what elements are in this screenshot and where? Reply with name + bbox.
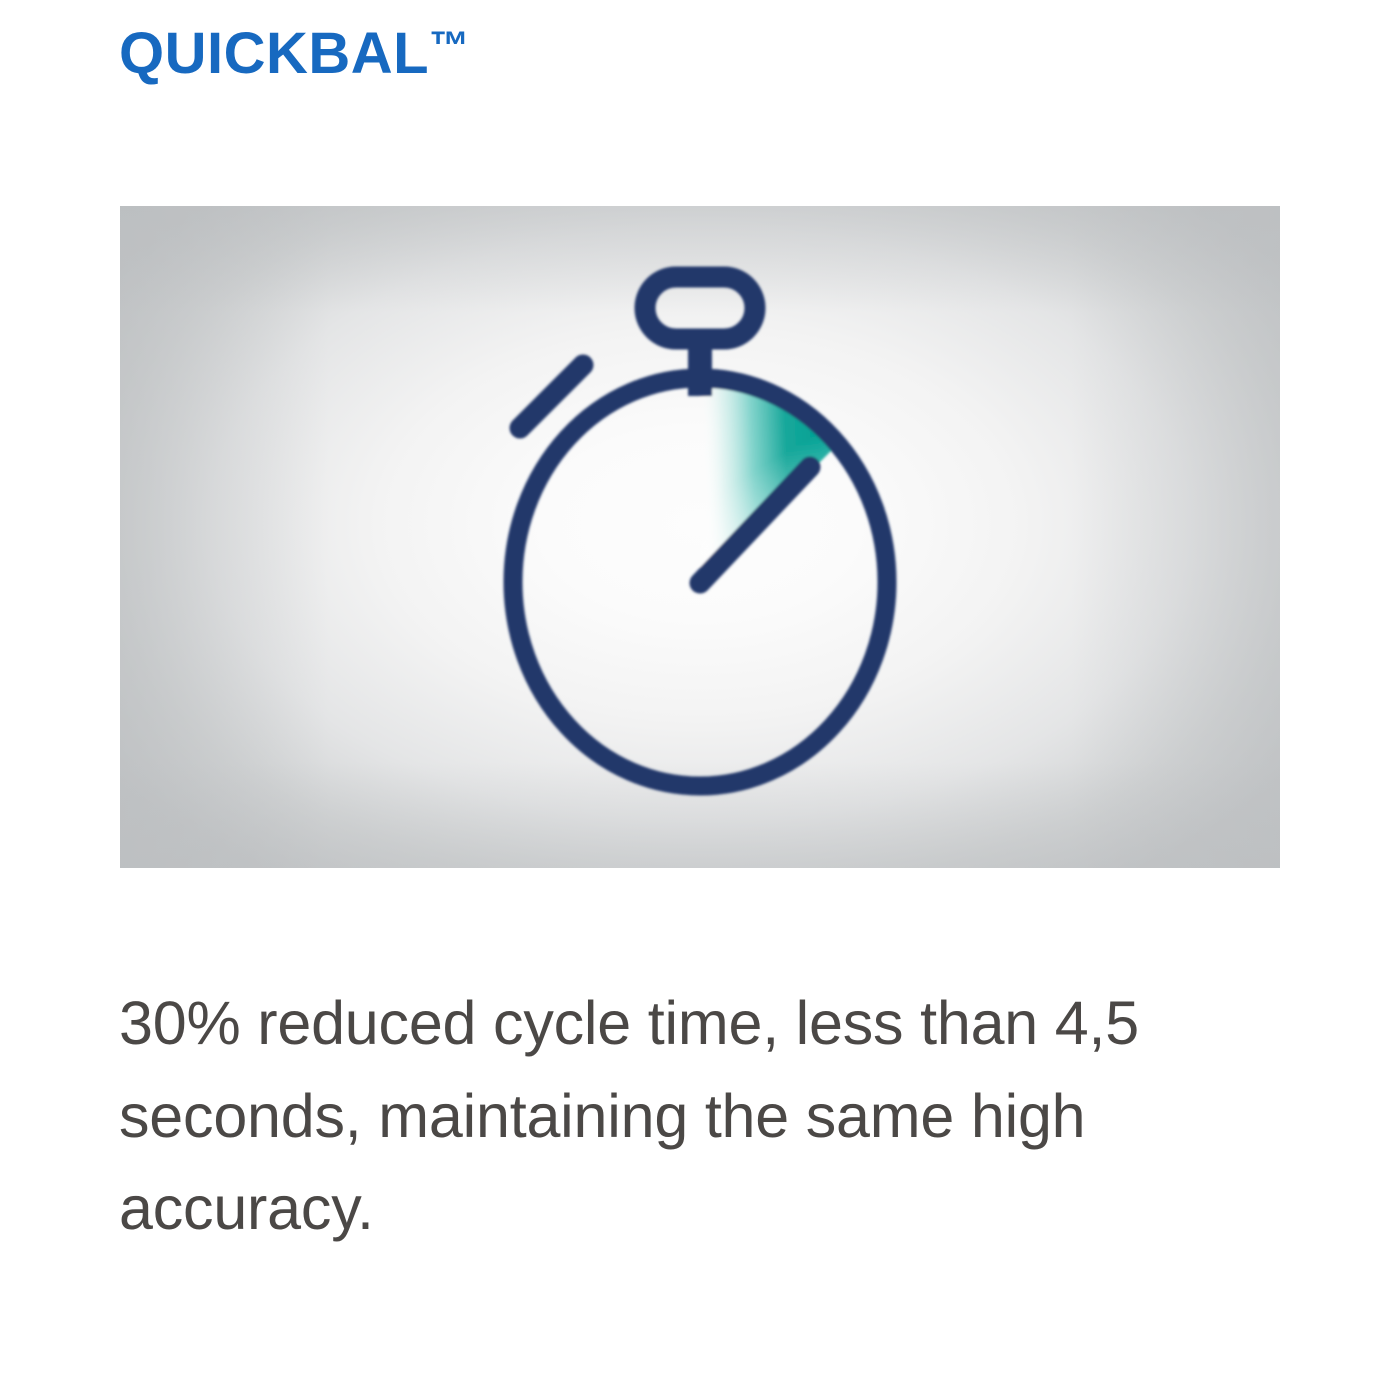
- crown-button: [645, 277, 755, 339]
- stopwatch-icon: [120, 206, 1280, 868]
- page-root: QUICKBAL™: [0, 0, 1400, 1400]
- caption-text: 30% reduced cycle time, less than 4,5 se…: [119, 977, 1229, 1255]
- page-title: QUICKBAL™: [119, 22, 469, 86]
- hero-image-panel: [120, 206, 1280, 868]
- trademark-symbol: ™: [429, 24, 469, 68]
- brand-name: QUICKBAL: [119, 21, 429, 86]
